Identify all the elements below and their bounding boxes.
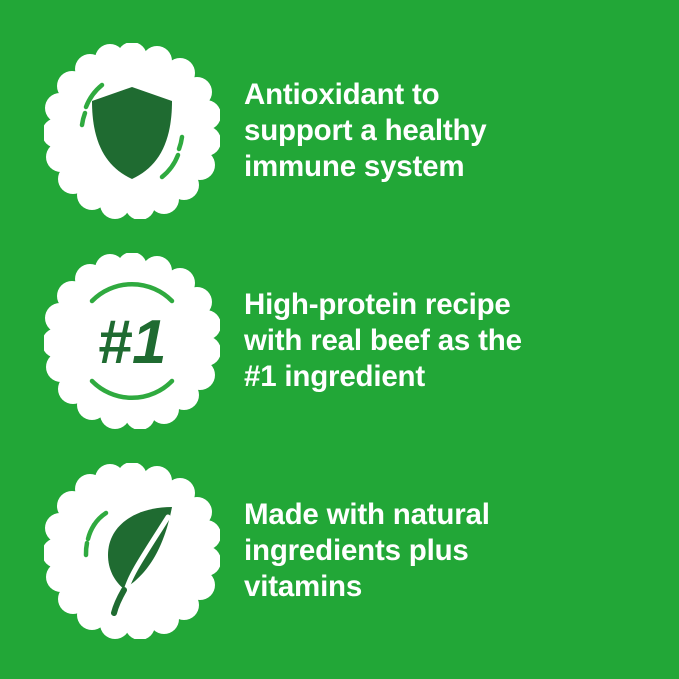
badge-number-one: #1 — [44, 253, 220, 429]
feature-item-high-protein: #1 High-protein recipe with real beef as… — [0, 236, 679, 446]
feature-item-antioxidant: Antioxidant to support a healthy immune … — [0, 26, 679, 236]
feature-item-natural-ingredients: Made with natural ingredients plus vitam… — [0, 446, 679, 656]
badge-leaf — [44, 463, 220, 639]
feature-text-high-protein: High-protein recipe with real beef as th… — [244, 287, 522, 395]
feature-text-antioxidant: Antioxidant to support a healthy immune … — [244, 77, 486, 185]
badge-shield — [44, 43, 220, 219]
feature-list-panel: Antioxidant to support a healthy immune … — [0, 0, 679, 679]
feature-text-natural-ingredients: Made with natural ingredients plus vitam… — [244, 497, 490, 605]
number-one-glyph: #1 — [98, 308, 167, 377]
